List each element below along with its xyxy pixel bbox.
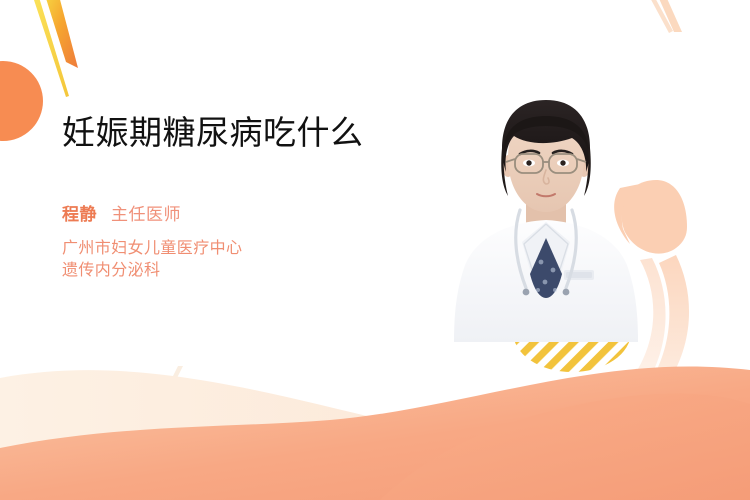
page-title: 妊娠期糖尿病吃什么 bbox=[62, 112, 392, 154]
pupil-right bbox=[560, 160, 565, 165]
top-right-stripes-icon bbox=[648, 0, 682, 33]
doctor-role-title: 主任医师 bbox=[111, 205, 181, 224]
top-left-thin-stripe-icon bbox=[32, 0, 69, 97]
card-text-block: 妊娠期糖尿病吃什么 程静主任医师 广州市妇女儿童医疗中心 遗传内分泌科 bbox=[62, 112, 407, 283]
hospital-name: 广州市妇女儿童医疗中心 bbox=[62, 238, 407, 261]
department-name: 遗传内分泌科 bbox=[62, 260, 407, 283]
top-left-thick-stripe-icon bbox=[44, 0, 78, 68]
stethoscope-earpiece-left bbox=[523, 289, 530, 296]
doctor-portrait bbox=[446, 92, 646, 370]
doctor-name: 程静 bbox=[62, 205, 97, 224]
doctor-portrait-illustration bbox=[446, 92, 646, 370]
bottom-waves-decoration bbox=[0, 366, 750, 500]
doctor-article-cover-card: 妊娠期糖尿病吃什么 程静主任医师 广州市妇女儿童医疗中心 遗传内分泌科 bbox=[0, 0, 750, 500]
faint-diagonal-stripe-icon bbox=[159, 366, 183, 404]
doctor-affiliation: 广州市妇女儿童医疗中心 遗传内分泌科 bbox=[62, 238, 407, 283]
doctor-byline: 程静主任医师 bbox=[62, 200, 407, 225]
stethoscope-earpiece-right bbox=[563, 289, 570, 296]
left-orange-circle-icon bbox=[0, 61, 43, 141]
pupil-left bbox=[526, 160, 531, 165]
